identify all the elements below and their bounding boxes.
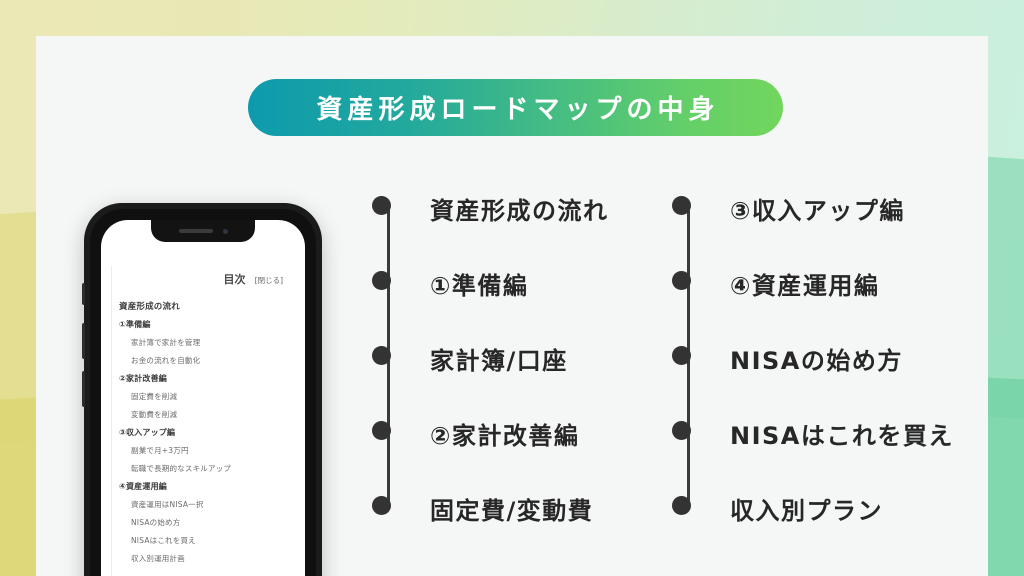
roadmap-item[interactable]: 収入別プラン (672, 496, 968, 571)
phone-notch (151, 220, 255, 242)
timeline-dot-icon (672, 496, 691, 515)
toc-header: 目次 [閉じる] (117, 268, 295, 287)
toc-close-link[interactable]: [閉じる] (255, 276, 283, 285)
roadmap-item[interactable]: NISAはこれを買え (672, 421, 968, 496)
roadmap-columns: 資産形成の流れ ①準備編 家計簿/口座 ②家計改善編 固定費/変動費 ③収入アッ… (372, 196, 972, 532)
roadmap-item-label: ④資産運用編 (730, 266, 879, 301)
roadmap-item-label: ②家計改善編 (430, 416, 579, 451)
timeline-dot-icon (672, 421, 691, 440)
toc-entry[interactable]: 資産形成の流れ (119, 300, 295, 312)
toc-title: 目次 (224, 273, 246, 286)
toc-entry[interactable]: 資産運用はNISA一択 (131, 499, 295, 510)
page-title-banner: 資産形成ロードマップの中身 (248, 79, 783, 136)
table-of-contents: 目次 [閉じる] 資産形成の流れ ①準備編 家計簿で家計を管理 お金の流れを自動… (101, 220, 305, 564)
roadmap-item[interactable]: ④資産運用編 (672, 271, 968, 346)
page-title: 資産形成ロードマップの中身 (311, 89, 719, 126)
timeline-dot-icon (372, 421, 391, 440)
timeline-dot-icon (372, 196, 391, 215)
timeline-dot-icon (372, 496, 391, 515)
toc-entry[interactable]: 家計簿で家計を管理 (131, 337, 295, 348)
timeline-dot-icon (372, 346, 391, 365)
roadmap-column-right: ③収入アップ編 ④資産運用編 NISAの始め方 NISAはこれを買え 収入別プラ… (672, 196, 968, 532)
roadmap-column-left: 資産形成の流れ ①準備編 家計簿/口座 ②家計改善編 固定費/変動費 (372, 196, 668, 532)
roadmap-item[interactable]: ①準備編 (372, 271, 668, 346)
roadmap-item[interactable]: 資産形成の流れ (372, 196, 668, 271)
phone-mute-switch[interactable] (82, 283, 85, 305)
toc-entry[interactable]: 副業で月+3万円 (131, 445, 295, 456)
toc-entry[interactable]: お金の流れを自動化 (131, 355, 295, 366)
phone-mockup: 目次 [閉じる] 資産形成の流れ ①準備編 家計簿で家計を管理 お金の流れを自動… (84, 203, 322, 576)
roadmap-item[interactable]: 固定費/変動費 (372, 496, 668, 571)
toc-entry[interactable]: 収入別運用計画 (131, 553, 295, 564)
roadmap-item[interactable]: ③収入アップ編 (672, 196, 968, 271)
toc-entry[interactable]: 変動費を削減 (131, 409, 295, 420)
toc-entry[interactable]: 転職で長期的なスキルアップ (131, 463, 295, 474)
timeline-dot-icon (672, 346, 691, 365)
roadmap-item-label: 収入別プラン (730, 491, 883, 526)
timeline-dot-icon (672, 196, 691, 215)
toc-divider (111, 266, 112, 576)
phone-volume-down-button[interactable] (82, 371, 85, 407)
roadmap-item-label: NISAの始め方 (730, 341, 903, 376)
roadmap-item-label: 固定費/変動費 (430, 491, 593, 526)
phone-volume-up-button[interactable] (82, 323, 85, 359)
timeline-dot-icon (372, 271, 391, 290)
roadmap-item[interactable]: 家計簿/口座 (372, 346, 668, 421)
toc-entry[interactable]: ②家計改善編 (119, 373, 295, 384)
roadmap-item[interactable]: NISAの始め方 (672, 346, 968, 421)
toc-entry[interactable]: ①準備編 (119, 319, 295, 330)
camera-icon (223, 229, 228, 234)
phone-bezel: 目次 [閉じる] 資産形成の流れ ①準備編 家計簿で家計を管理 お金の流れを自動… (90, 209, 316, 576)
toc-entry[interactable]: 固定費を削減 (131, 391, 295, 402)
timeline-dot-icon (672, 271, 691, 290)
roadmap-item-label: 家計簿/口座 (430, 341, 568, 376)
roadmap-item-label: 資産形成の流れ (430, 191, 609, 226)
toc-entry[interactable]: ③収入アップ編 (119, 427, 295, 438)
roadmap-item-label: ①準備編 (430, 266, 528, 301)
roadmap-item-label: NISAはこれを買え (730, 416, 954, 451)
toc-entry[interactable]: NISAの始め方 (131, 517, 295, 528)
toc-entry[interactable]: NISAはこれを買え (131, 535, 295, 546)
roadmap-item-label: ③収入アップ編 (730, 191, 905, 226)
toc-entry[interactable]: ④資産運用編 (119, 481, 295, 492)
speaker-icon (179, 229, 213, 233)
phone-screen: 目次 [閉じる] 資産形成の流れ ①準備編 家計簿で家計を管理 お金の流れを自動… (101, 220, 305, 576)
roadmap-item[interactable]: ②家計改善編 (372, 421, 668, 496)
